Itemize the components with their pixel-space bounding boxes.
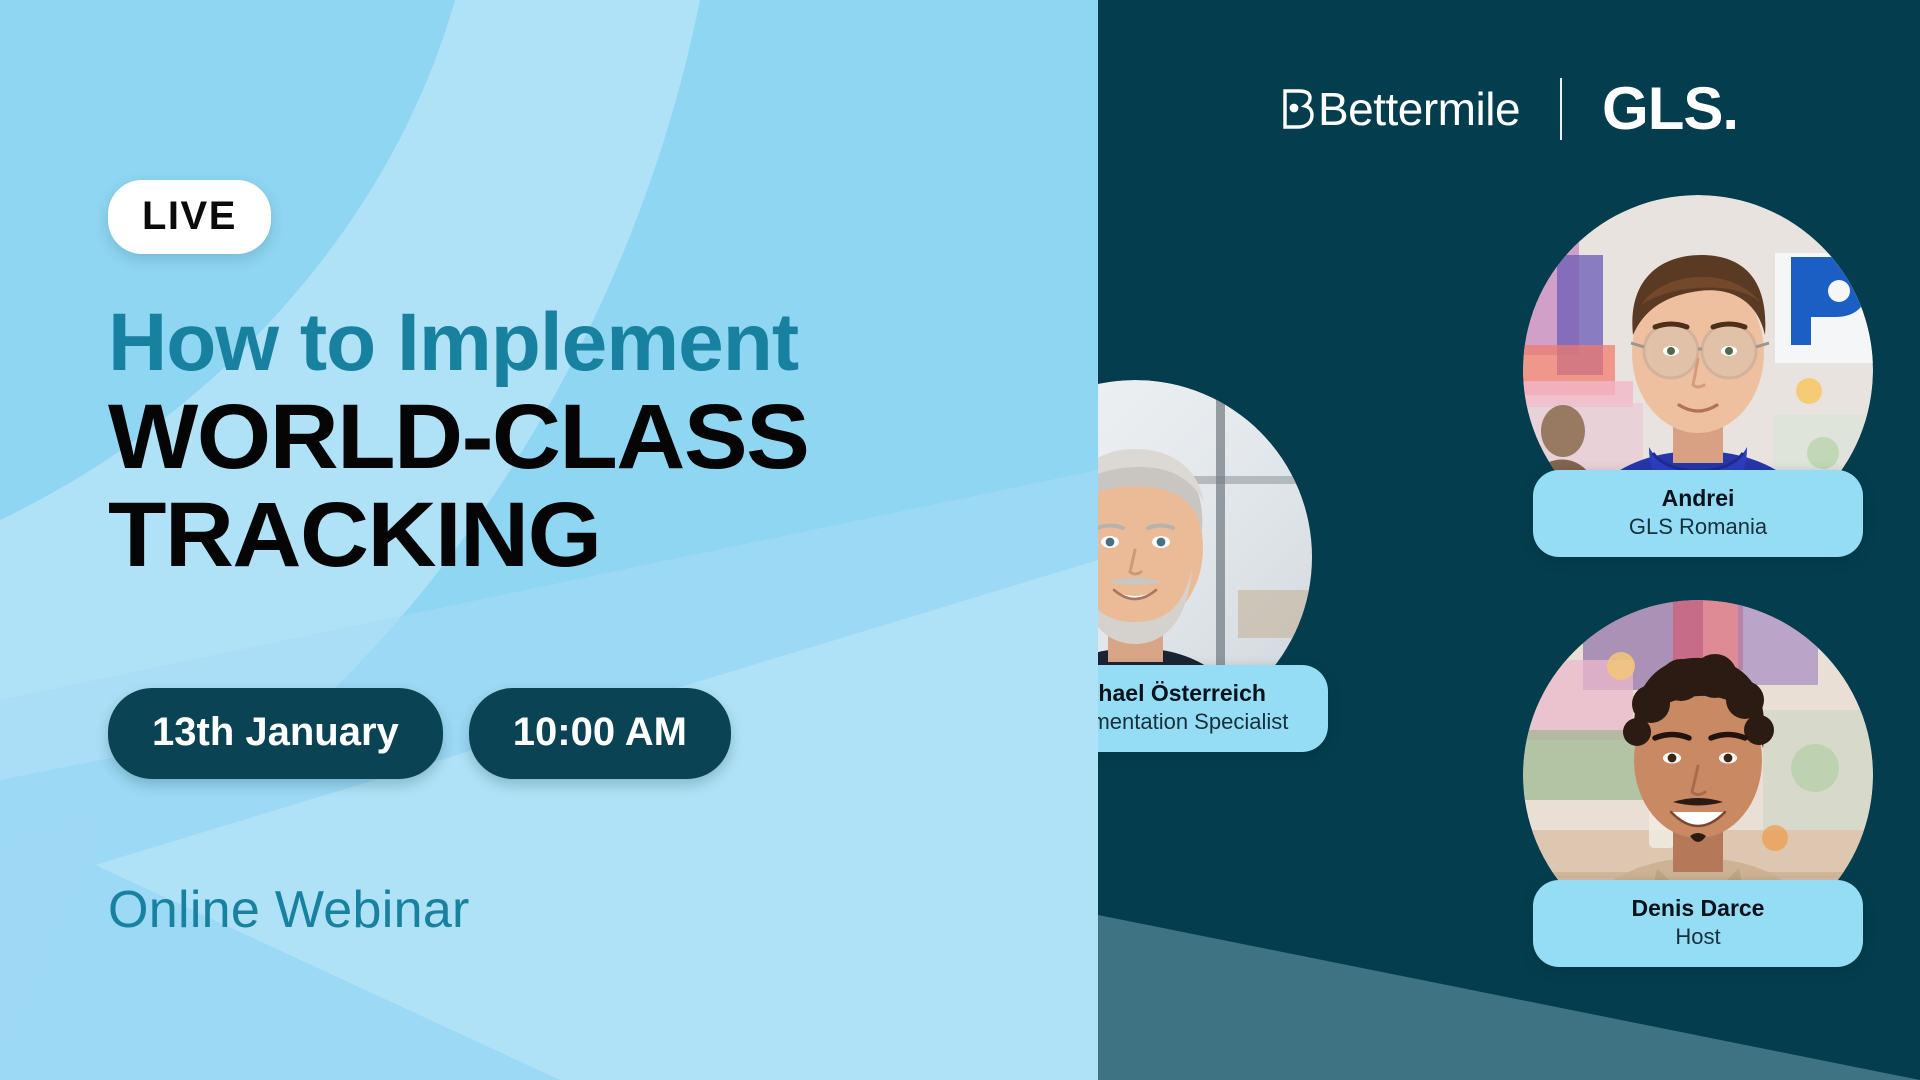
left-panel: LIVE How to Implement WORLD-CLASS TRACKI…: [0, 0, 1098, 1080]
event-details-row: 13th January 10:00 AM: [108, 688, 731, 779]
right-panel: Bettermile GLS.: [1098, 0, 1920, 1080]
speaker-card-michael: Michael Österreich Implementation Specia…: [1098, 380, 1313, 735]
event-date-label: 13th January: [152, 710, 399, 754]
bettermile-b-icon: [1280, 87, 1314, 131]
logo-divider: [1560, 78, 1562, 140]
speaker-role: Implementation Specialist: [1098, 708, 1302, 737]
speaker-card-denis: Denis Darce Host: [1523, 600, 1873, 950]
live-badge-label: LIVE: [142, 194, 237, 238]
event-date-pill: 13th January: [108, 688, 443, 779]
page-title: How to Implement WORLD-CLASS TRACKING: [108, 300, 1028, 584]
webinar-poster: LIVE How to Implement WORLD-CLASS TRACKI…: [0, 0, 1920, 1080]
speaker-card-andrei: Andrei GLS Romania: [1523, 195, 1873, 545]
speaker-name: Michael Österreich: [1098, 679, 1302, 708]
speaker-namecard: Andrei GLS Romania: [1533, 470, 1863, 557]
speaker-role: GLS Romania: [1559, 513, 1837, 542]
event-time-label: 10:00 AM: [513, 710, 687, 754]
event-format-label: Online Webinar: [108, 880, 470, 940]
left-content: LIVE How to Implement WORLD-CLASS TRACKI…: [0, 0, 1098, 1080]
title-line-1: How to Implement: [108, 300, 1028, 385]
speaker-namecard: Denis Darce Host: [1533, 880, 1863, 967]
brand-logos: Bettermile GLS.: [1098, 74, 1920, 143]
bettermile-logo-text: Bettermile: [1318, 82, 1520, 136]
speaker-namecard: Michael Österreich Implementation Specia…: [1098, 665, 1328, 752]
bettermile-logo: Bettermile: [1280, 82, 1520, 136]
speaker-name: Denis Darce: [1559, 894, 1837, 923]
event-time-pill: 10:00 AM: [469, 688, 731, 779]
title-line-3: TRACKING: [108, 487, 1065, 585]
title-line-2: WORLD-CLASS: [108, 389, 1065, 487]
speaker-name: Andrei: [1559, 484, 1837, 513]
speaker-role: Host: [1559, 923, 1837, 952]
live-badge: LIVE: [108, 180, 271, 254]
gls-logo-text: GLS.: [1602, 74, 1738, 143]
